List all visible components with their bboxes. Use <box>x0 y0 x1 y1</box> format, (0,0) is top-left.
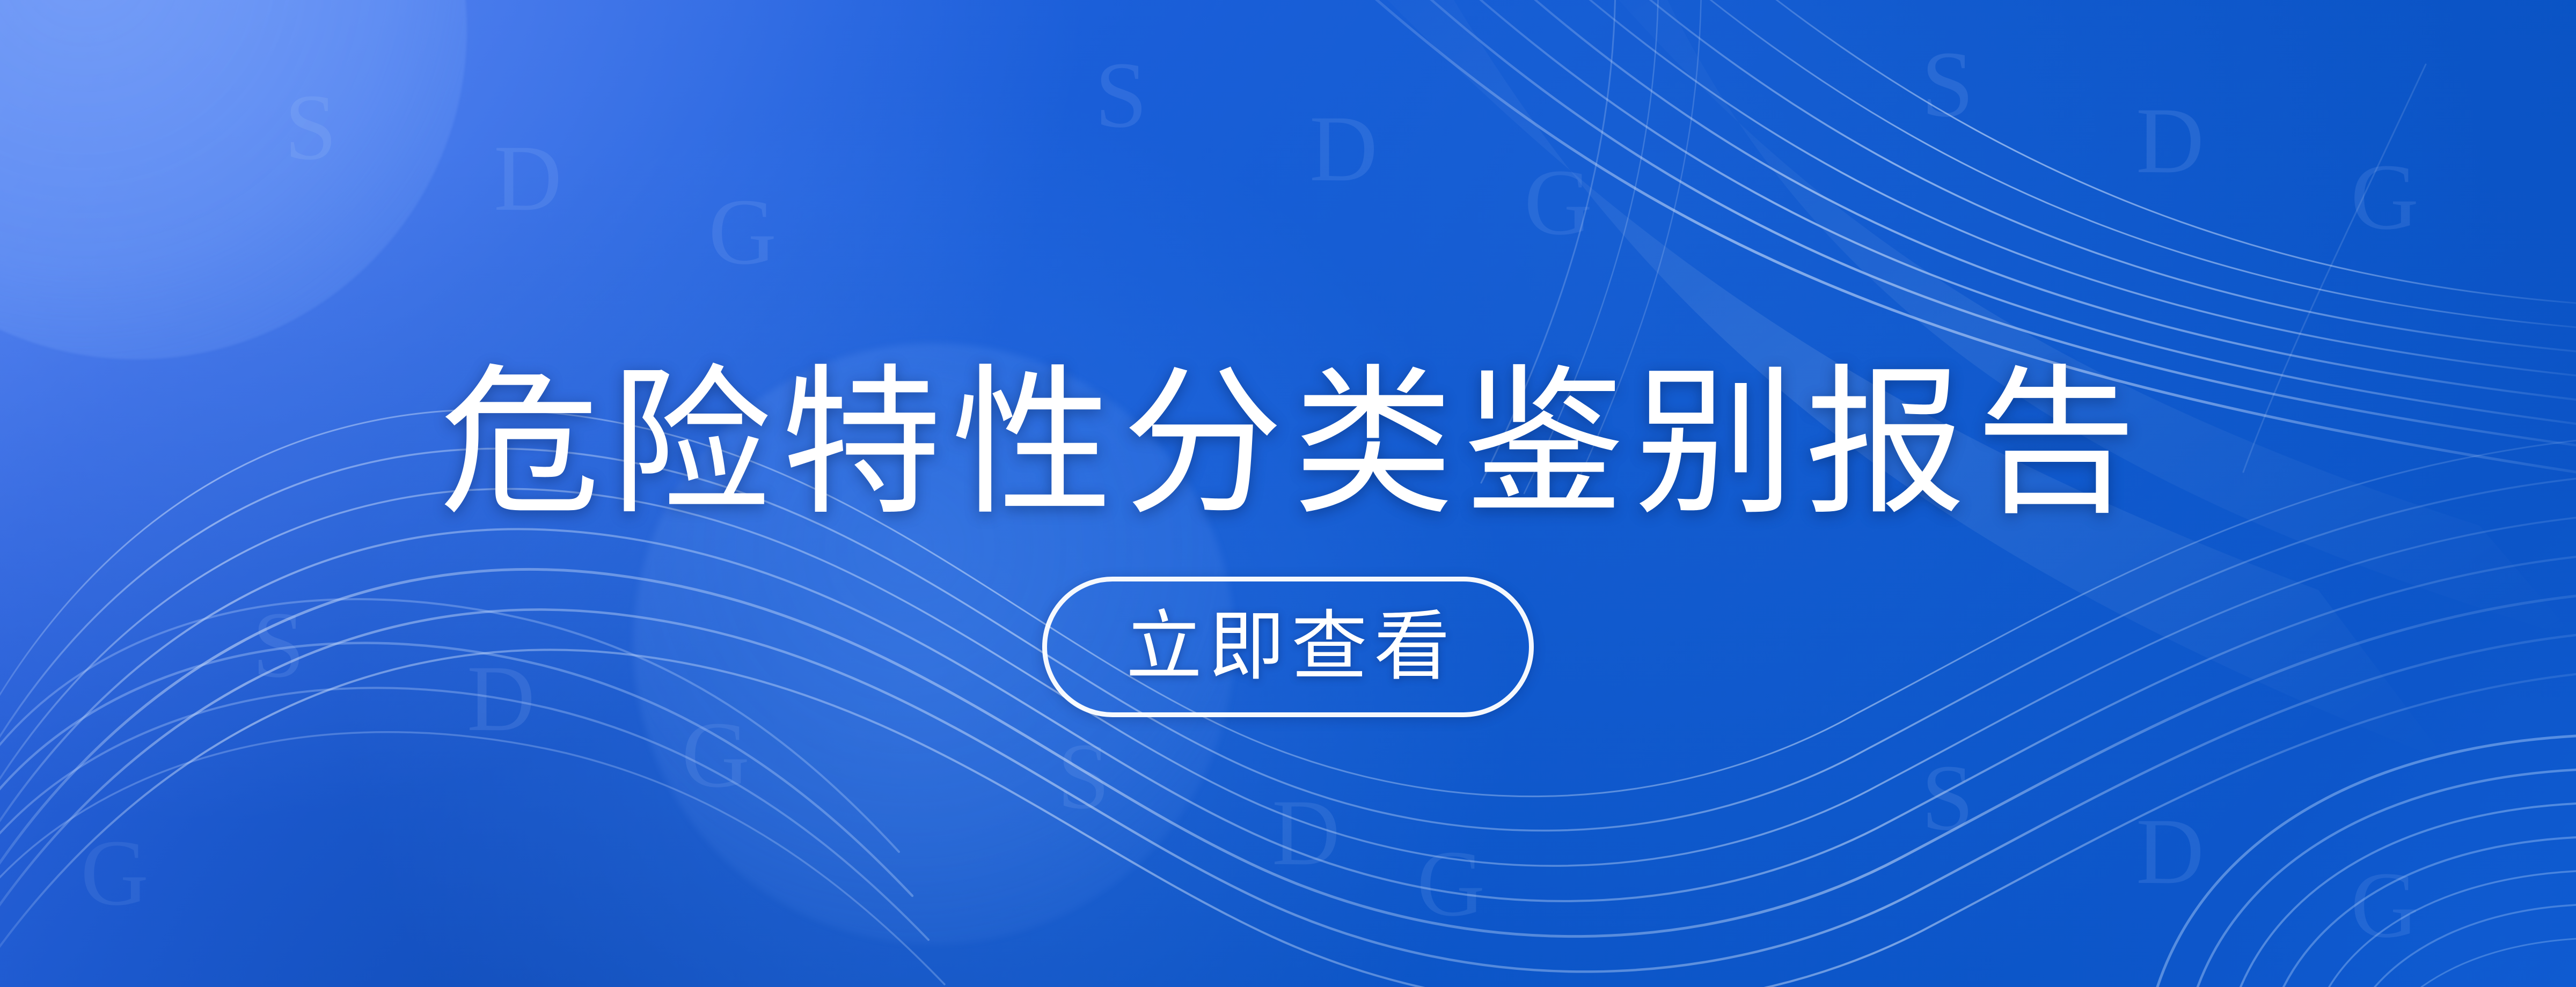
promo-banner: SDGSDGSDGSDGSDGSDGG <box>0 0 2576 987</box>
view-now-button-label: 立即查看 <box>1119 609 1457 685</box>
page-title: 危险特性分类鉴别报告 <box>0 359 2576 528</box>
view-now-button[interactable]: 立即查看 <box>1042 577 1534 717</box>
banner-content: 危险特性分类鉴别报告 立即查看 <box>0 0 2576 987</box>
